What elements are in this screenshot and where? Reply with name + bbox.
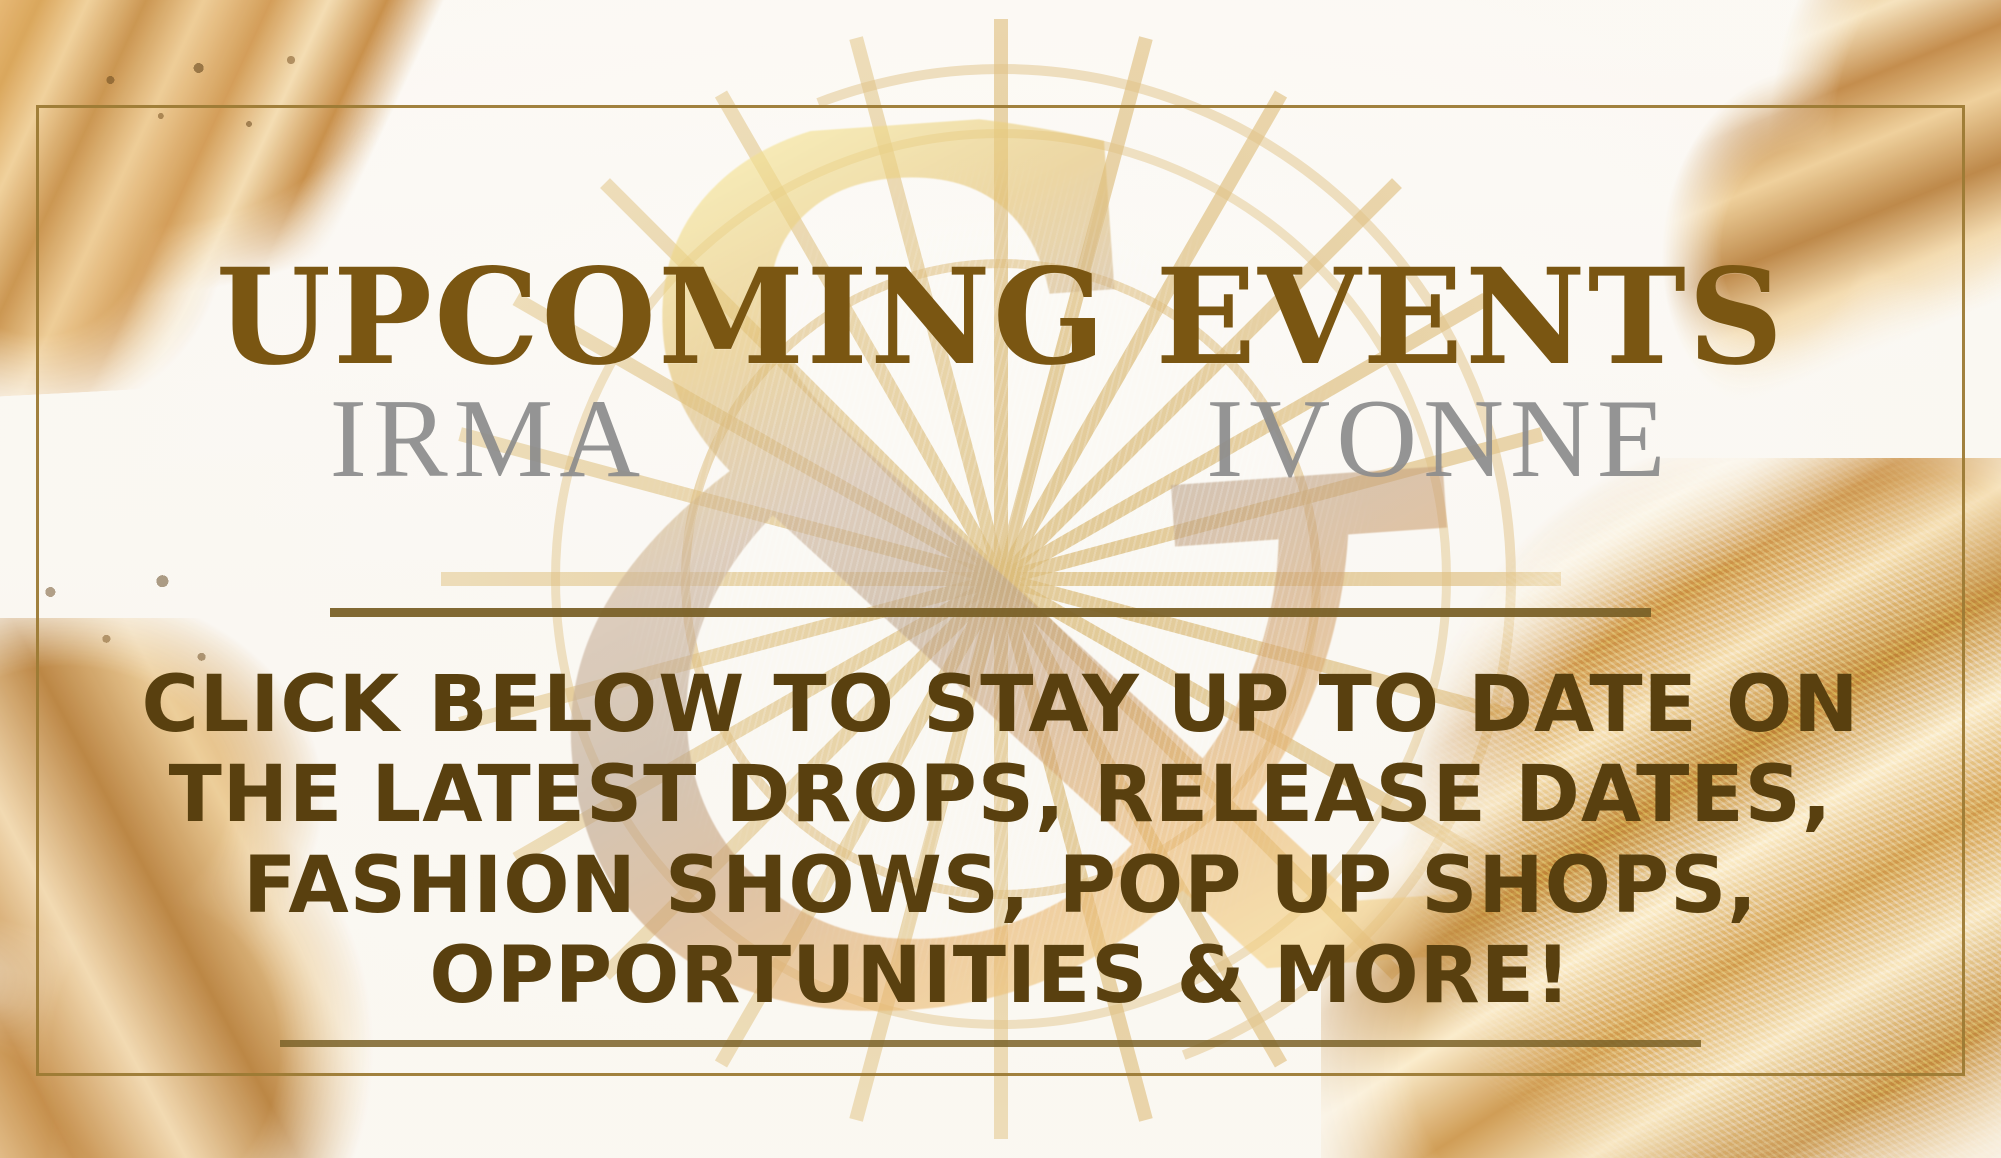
upcoming-events-banner: & IRMA IVONNE UPCOMING EVENTS CLICK BELO… — [0, 0, 2001, 1158]
body-copy: CLICK BELOW TO STAY UP TO DATE ON THE LA… — [60, 660, 1941, 1022]
body-line-1: CLICK BELOW TO STAY UP TO DATE ON — [60, 660, 1941, 750]
body-line-2: THE LATEST DROPS, RELEASE DATES, — [60, 750, 1941, 840]
divider-rule-top — [330, 608, 1651, 617]
body-line-3: FASHION SHOWS, POP UP SHOPS, — [60, 841, 1941, 931]
divider-rule-bottom — [280, 1040, 1701, 1047]
page-title: UPCOMING EVENTS — [0, 252, 2001, 384]
banner-content: IRMA IVONNE UPCOMING EVENTS CLICK BELOW … — [0, 0, 2001, 1158]
body-line-4: OPPORTUNITIES & MORE! — [60, 931, 1941, 1021]
